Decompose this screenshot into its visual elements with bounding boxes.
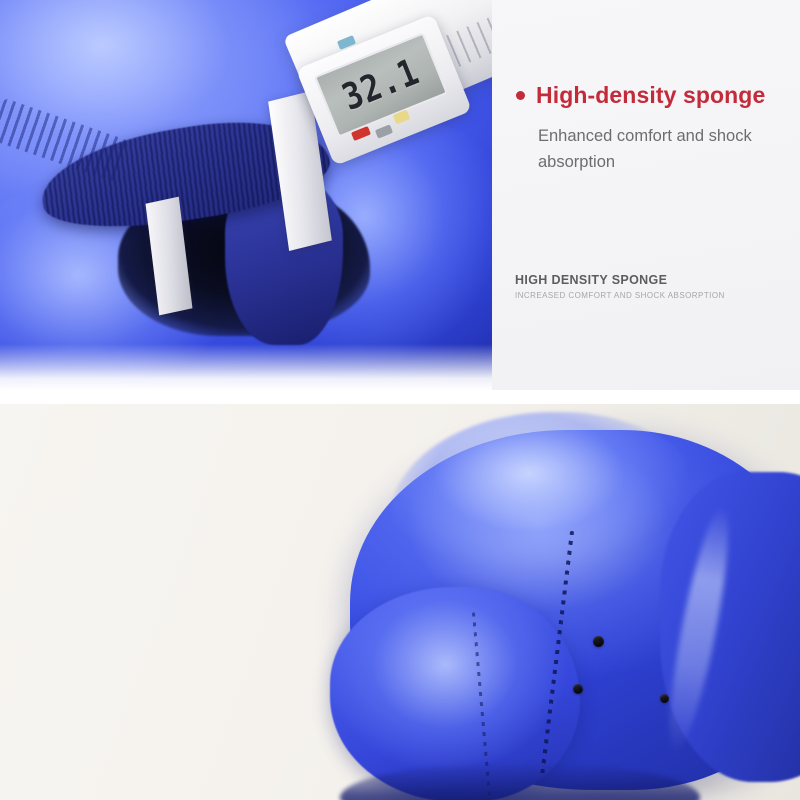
bullet-dot-icon: [516, 91, 525, 100]
panel1-product-photo: 32.1: [0, 0, 492, 390]
panel-high-density-sponge: 32.1 High-density sponge Enhanced comfor…: [0, 0, 800, 390]
panel1-description: Enhanced comfort and shock absorption: [538, 124, 788, 175]
panel1-text-side: [492, 0, 800, 390]
panel1-bottom-fade: [0, 344, 492, 390]
panel-ear-protection-design: Ear protection design Fits snugly to pro…: [0, 404, 800, 800]
panel1-caption-title: HIGH DENSITY SPONGE: [515, 273, 775, 287]
panel1-headline-text: High-density sponge: [536, 82, 765, 109]
panel1-caption-block: HIGH DENSITY SPONGE INCREASED COMFORT AN…: [515, 273, 775, 300]
panel-divider: [0, 390, 800, 404]
ear-vent-hole: [593, 636, 604, 647]
panel1-headline: High-density sponge: [516, 82, 765, 109]
ear-vent-hole: [660, 694, 669, 703]
panel1-caption-subtitle: INCREASED COMFORT AND SHOCK ABSORPTION: [515, 291, 775, 300]
product-feature-page: 32.1 High-density sponge Enhanced comfor…: [0, 0, 800, 800]
ear-vent-hole: [573, 684, 583, 694]
panel2-product-photo: [330, 412, 800, 800]
